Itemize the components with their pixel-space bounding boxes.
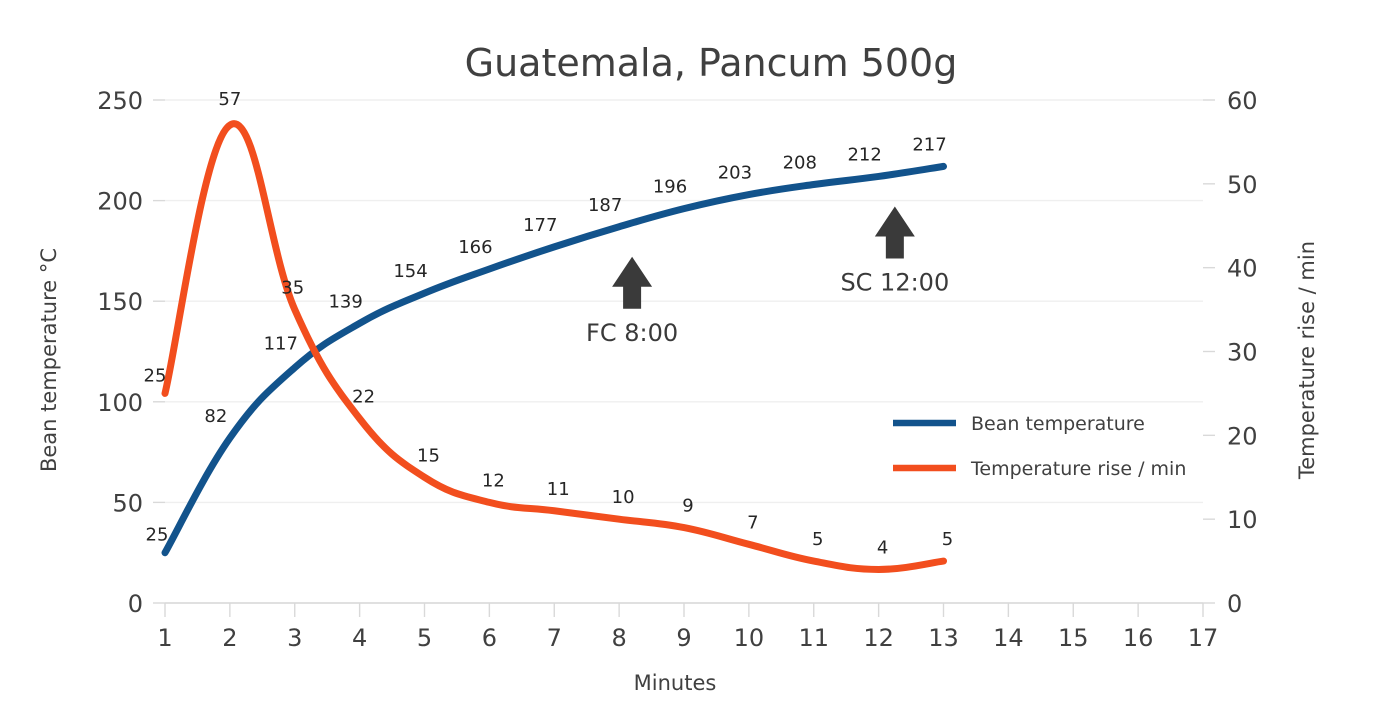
y-right-tick-label: 20 bbox=[1227, 422, 1258, 450]
x-tick-label: 16 bbox=[1123, 624, 1154, 652]
x-tick-label: 12 bbox=[863, 624, 894, 652]
y-left-tick-label: 50 bbox=[112, 489, 143, 517]
data-label: 196 bbox=[653, 177, 687, 198]
data-label: 203 bbox=[718, 163, 752, 184]
data-label: 15 bbox=[417, 445, 440, 466]
data-label: 57 bbox=[218, 89, 241, 110]
data-label: 7 bbox=[747, 512, 758, 533]
chart-container: Guatemala, Pancum 500g 12345678910111213… bbox=[0, 0, 1400, 701]
y-left-tick-label: 200 bbox=[97, 188, 143, 216]
x-tick-label: 1 bbox=[157, 624, 172, 652]
chart-title: Guatemala, Pancum 500g bbox=[465, 41, 958, 85]
x-tick-label: 6 bbox=[482, 624, 497, 652]
y-right-tick-label: 60 bbox=[1227, 87, 1258, 115]
y-right-tick-label: 50 bbox=[1227, 171, 1258, 199]
y-left-tick-label: 150 bbox=[97, 288, 143, 316]
y-axis-right: 0102030405060 bbox=[1203, 87, 1258, 618]
x-tick-label: 7 bbox=[547, 624, 562, 652]
x-tick-label: 5 bbox=[417, 624, 432, 652]
legend-label-1: Bean temperature bbox=[971, 413, 1145, 435]
x-axis-title: Minutes bbox=[634, 671, 717, 695]
x-tick-label: 9 bbox=[676, 624, 691, 652]
y-left-tick-label: 100 bbox=[97, 389, 143, 417]
y-right-tick-label: 30 bbox=[1227, 339, 1258, 367]
data-label: 187 bbox=[588, 195, 622, 216]
y-axis-right-title: Temperature rise / min bbox=[1295, 241, 1319, 480]
data-label: 217 bbox=[912, 134, 946, 155]
data-label: 208 bbox=[783, 153, 817, 174]
data-label: 35 bbox=[281, 278, 304, 299]
y-right-tick-label: 40 bbox=[1227, 255, 1258, 283]
data-label: 117 bbox=[264, 334, 298, 355]
x-tick-label: 2 bbox=[222, 624, 237, 652]
data-label: 9 bbox=[682, 496, 693, 517]
data-label: 4 bbox=[877, 537, 888, 558]
y-axis-left-title: Bean temperature °C bbox=[37, 248, 61, 472]
y-left-tick-label: 250 bbox=[97, 87, 143, 115]
x-tick-label: 10 bbox=[734, 624, 765, 652]
x-tick-label: 4 bbox=[352, 624, 367, 652]
annotation-label: SC 12:00 bbox=[840, 268, 949, 296]
y-left-tick-label: 0 bbox=[128, 590, 143, 618]
x-axis: 1234567891011121314151617 bbox=[157, 603, 1218, 652]
data-label: 11 bbox=[547, 479, 570, 500]
line-chart: Guatemala, Pancum 500g 12345678910111213… bbox=[0, 0, 1400, 701]
data-label: 12 bbox=[482, 470, 505, 491]
data-label: 82 bbox=[204, 406, 227, 427]
data-label: 154 bbox=[393, 261, 427, 282]
legend: Bean temperatureTemperature rise / min bbox=[893, 413, 1186, 480]
y-right-tick-label: 10 bbox=[1227, 506, 1258, 534]
annotations: FC 8:00SC 12:00 bbox=[586, 206, 949, 346]
data-label: 177 bbox=[523, 215, 557, 236]
data-label: 10 bbox=[612, 487, 635, 508]
x-tick-label: 17 bbox=[1188, 624, 1219, 652]
data-label: 166 bbox=[458, 237, 492, 258]
data-label: 5 bbox=[942, 529, 953, 550]
legend-label-2: Temperature rise / min bbox=[970, 458, 1186, 480]
annotation-arrow-icon bbox=[875, 206, 915, 258]
data-label: 139 bbox=[328, 291, 362, 312]
x-tick-label: 3 bbox=[287, 624, 302, 652]
data-label: 25 bbox=[146, 525, 169, 546]
x-tick-label: 14 bbox=[993, 624, 1024, 652]
data-label: 22 bbox=[352, 387, 375, 408]
x-tick-label: 15 bbox=[1058, 624, 1089, 652]
data-labels: 2582117139154166177187196203208212217255… bbox=[144, 89, 954, 558]
x-tick-label: 13 bbox=[928, 624, 959, 652]
annotation-label: FC 8:00 bbox=[586, 319, 678, 347]
y-right-tick-label: 0 bbox=[1227, 590, 1242, 618]
data-label: 212 bbox=[847, 144, 881, 165]
x-tick-label: 11 bbox=[798, 624, 829, 652]
x-tick-label: 8 bbox=[611, 624, 626, 652]
data-label: 25 bbox=[144, 365, 167, 386]
data-label: 5 bbox=[812, 529, 823, 550]
